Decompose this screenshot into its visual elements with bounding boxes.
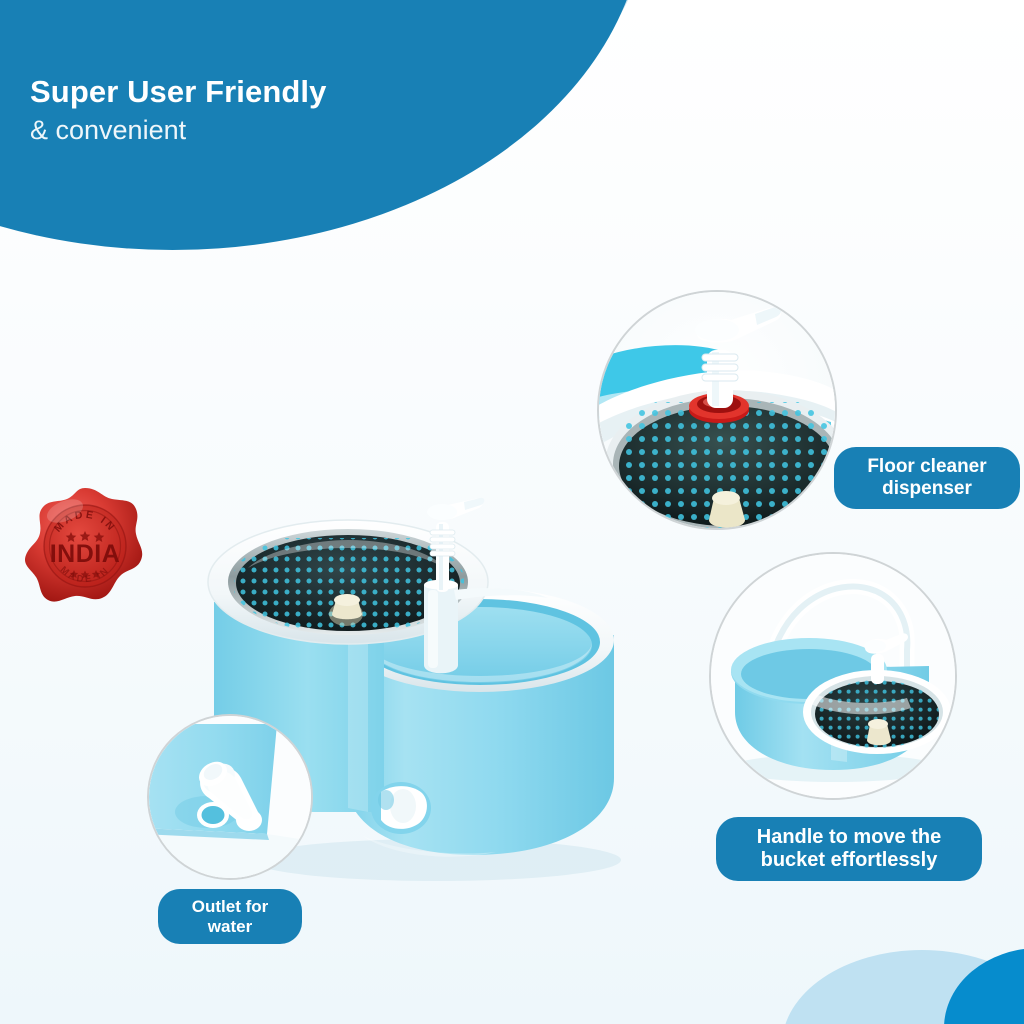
callout-label-line1: Outlet for	[166, 897, 294, 917]
callout-label-floor-cleaner-dispenser[interactable]: Floor cleaner dispenser	[834, 447, 1020, 509]
callout-label-line1: Floor cleaner	[842, 456, 1012, 478]
callout-label-carry-handle[interactable]: Handle to move the bucket effortlessly	[716, 817, 982, 881]
header-text-block: Super User Friendly & convenient	[30, 75, 550, 146]
product-feature-banner: Super User Friendly & convenient	[0, 0, 1024, 1024]
callout-label-line2: dispenser	[842, 478, 1012, 500]
inset-floor-cleaner-dispenser	[597, 290, 837, 530]
callout-label-line2: bucket effortlessly	[724, 849, 974, 872]
svg-text:INDIA: INDIA	[50, 540, 121, 568]
inset-carry-handle	[709, 552, 957, 800]
inset-water-outlet	[147, 714, 313, 880]
callout-label-line2: water	[166, 917, 294, 937]
page-subtitle: & convenient	[30, 114, 550, 146]
callout-label-line1: Handle to move the	[724, 826, 974, 849]
page-title: Super User Friendly	[30, 75, 550, 110]
callout-label-water-outlet[interactable]: Outlet for water	[158, 889, 302, 944]
made-in-india-seal: MADE IN INDIA MADE IN	[24, 484, 146, 610]
